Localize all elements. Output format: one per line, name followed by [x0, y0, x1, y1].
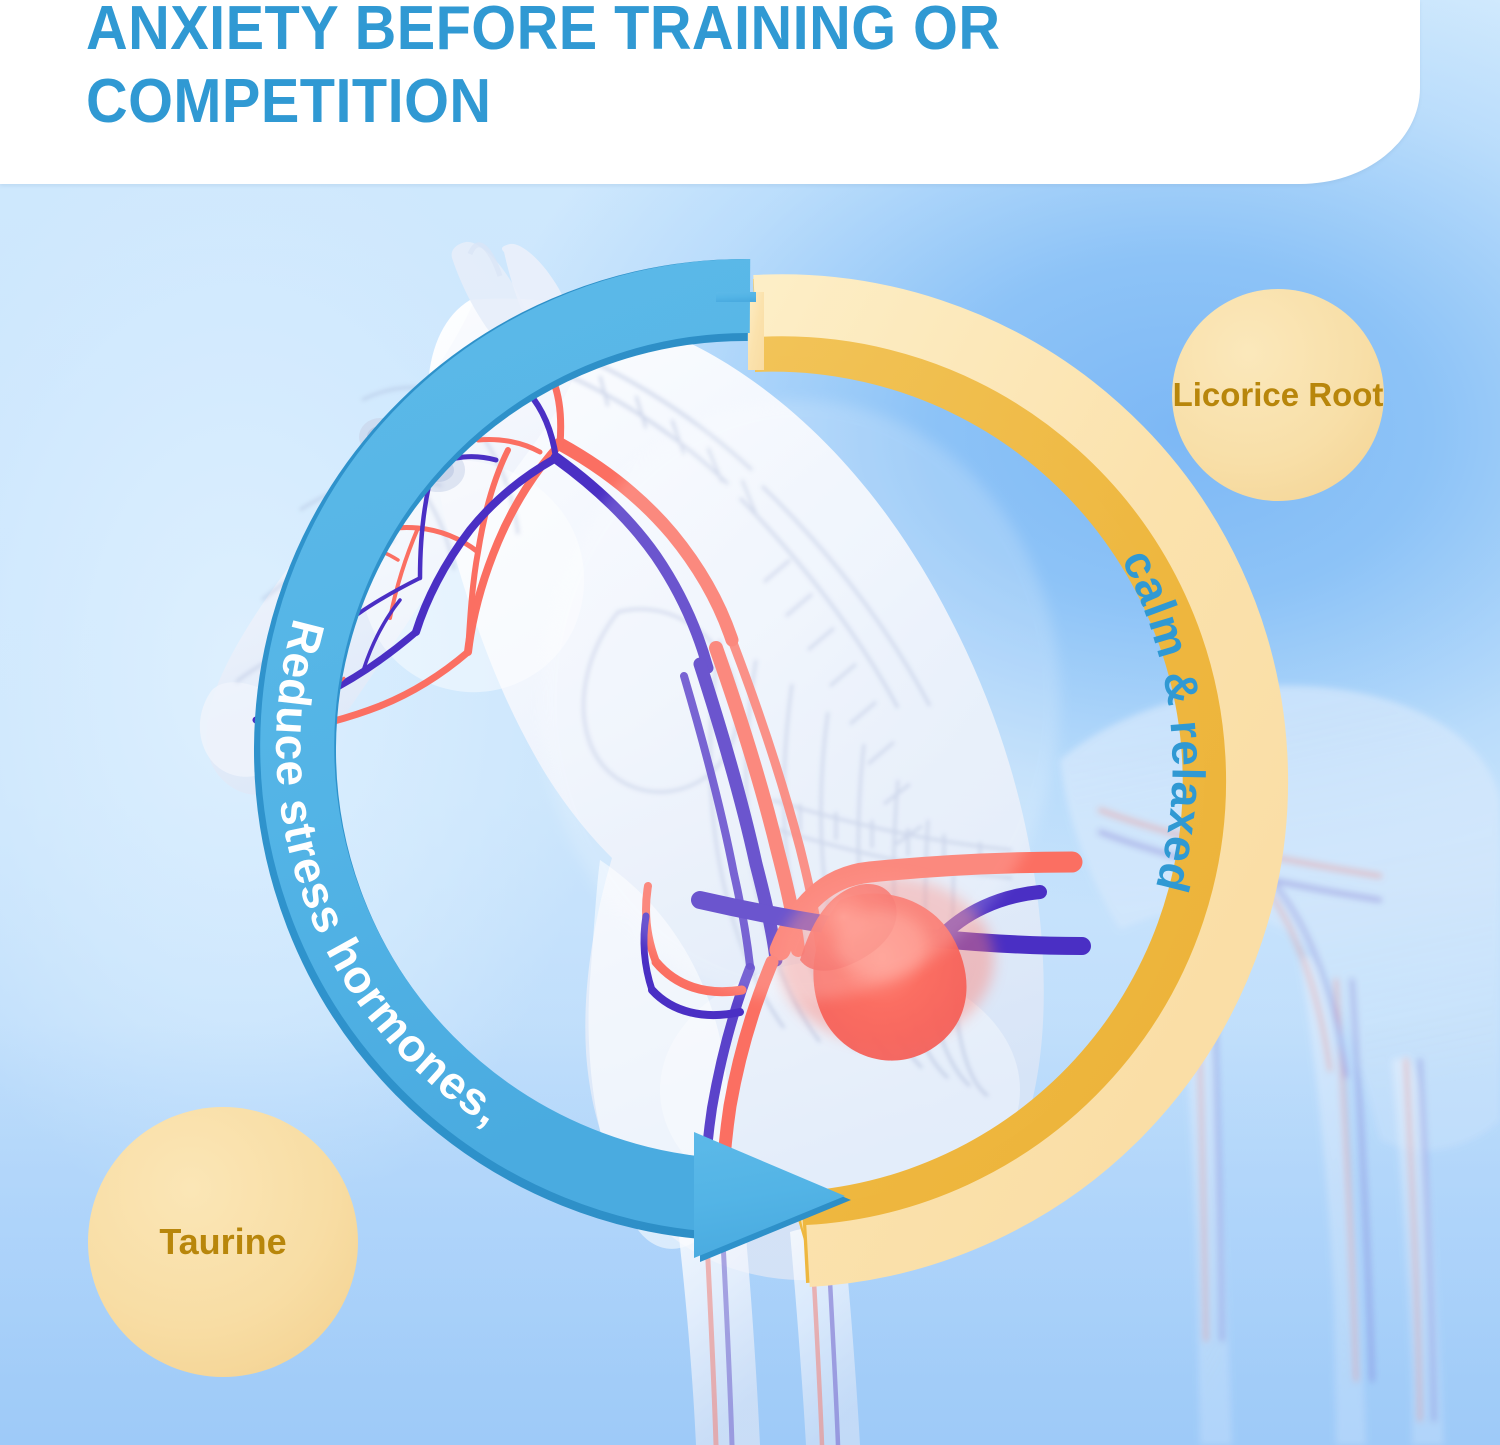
blue-arc-reduce-stress — [295, 292, 851, 1262]
page-title: ANXIETY BEFORE TRAINING OR COMPETITION — [86, 0, 1239, 138]
ingredient-badge-label: Taurine — [159, 1222, 286, 1263]
ingredient-badge-label: Licorice Root — [1173, 376, 1384, 413]
ingredient-badge-licorice-root[interactable]: Licorice Root — [1172, 289, 1384, 501]
title-card: ANXIETY BEFORE TRAINING OR COMPETITION — [0, 0, 1420, 184]
ingredient-badge-taurine[interactable]: Taurine — [88, 1107, 358, 1377]
infographic-canvas: calm & relaxed Reduce stress hormones, A… — [0, 0, 1500, 1445]
